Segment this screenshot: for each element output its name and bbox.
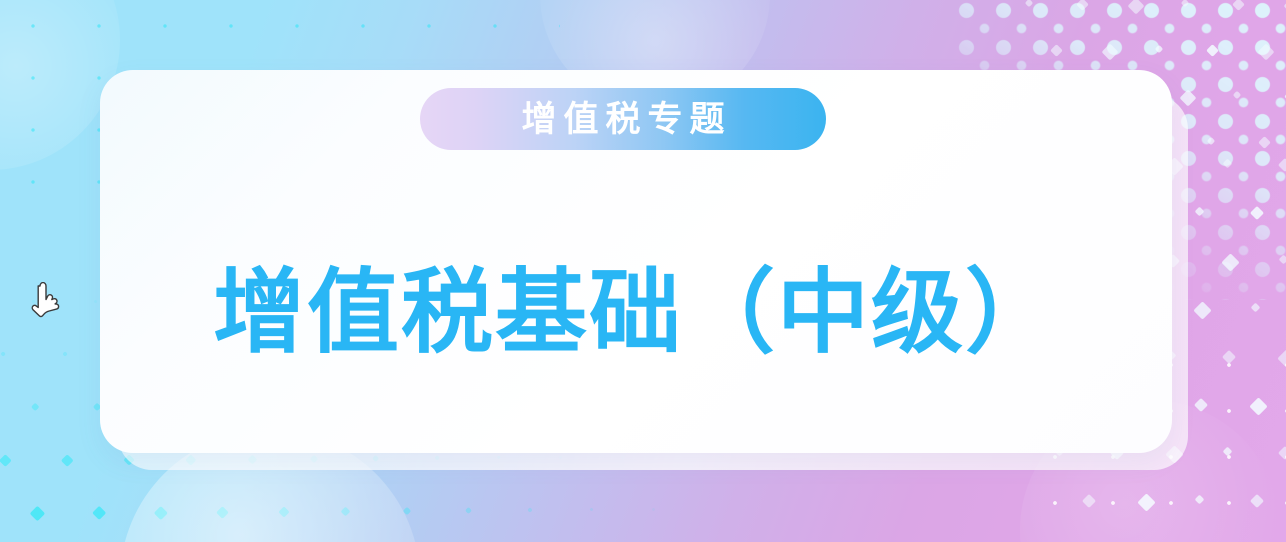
banner-card: 增值税专题 增值税基础（中级） xyxy=(100,70,1172,453)
page-title: 增值税基础（中级） xyxy=(100,265,1172,362)
topic-badge-label: 增值税专题 xyxy=(514,102,731,137)
topic-badge: 增值税专题 xyxy=(420,88,826,150)
pointer-hand-cursor xyxy=(28,282,62,322)
banner-stage: 增值税专题 增值税基础（中级） xyxy=(0,0,1286,542)
